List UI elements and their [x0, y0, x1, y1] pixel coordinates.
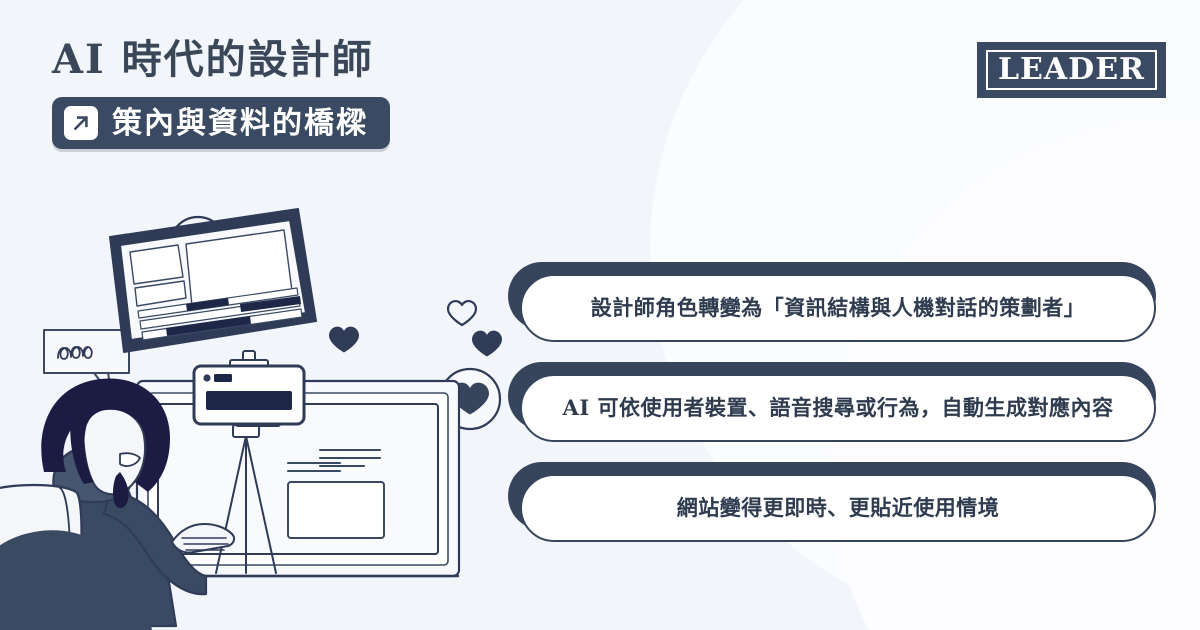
pill-label: AI 可依使用者裝置、語音搜尋或行為，自動生成對應內容: [563, 395, 1114, 420]
heart-filled-icon: [329, 327, 359, 353]
list-item[interactable]: AI 可依使用者裝置、語音搜尋或行為，自動生成對應內容: [508, 362, 1156, 430]
brand-logo: LEADER: [977, 42, 1166, 98]
pill-face: 設計師角色轉變為「資訊結構與人機對話的策劃者」: [520, 274, 1156, 342]
page-subtitle: 策內與資料的橋樑: [112, 107, 368, 140]
pill-face: AI 可依使用者裝置、語音搜尋或行為，自動生成對應內容: [520, 374, 1156, 442]
pill-face: 網站變得更即時、更貼近使用情境: [520, 474, 1156, 542]
poster-canvas: AI 時代的設計師 策內與資料的橋樑 LEADER: [0, 0, 1200, 630]
heart-filled-icon: [472, 331, 502, 357]
list-item[interactable]: 設計師角色轉變為「資訊結構與人機對話的策劃者」: [508, 262, 1156, 330]
heart-outline-icon: [448, 301, 476, 325]
page-title: AI 時代的設計師: [52, 36, 390, 83]
key-points-list: 設計師角色轉變為「資訊結構與人機對話的策劃者」 AI 可依使用者裝置、語音搜尋或…: [508, 262, 1156, 530]
tablet-screen: [110, 209, 316, 352]
brand-logo-text: LEADER: [998, 54, 1145, 86]
camera-device: [194, 351, 304, 424]
pill-label: 設計師角色轉變為「資訊結構與人機對話的策劃者」: [591, 295, 1086, 320]
list-item[interactable]: 網站變得更即時、更貼近使用情境: [508, 462, 1156, 530]
hero-illustration: [0, 180, 520, 630]
title-block: AI 時代的設計師 策內與資料的橋樑: [52, 36, 390, 149]
subtitle-badge: 策內與資料的橋樑: [52, 97, 390, 149]
brand-logo-frame: LEADER: [986, 50, 1157, 90]
pill-label: 網站變得更即時、更貼近使用情境: [677, 495, 1000, 520]
arrow-up-right-icon: [64, 106, 98, 140]
